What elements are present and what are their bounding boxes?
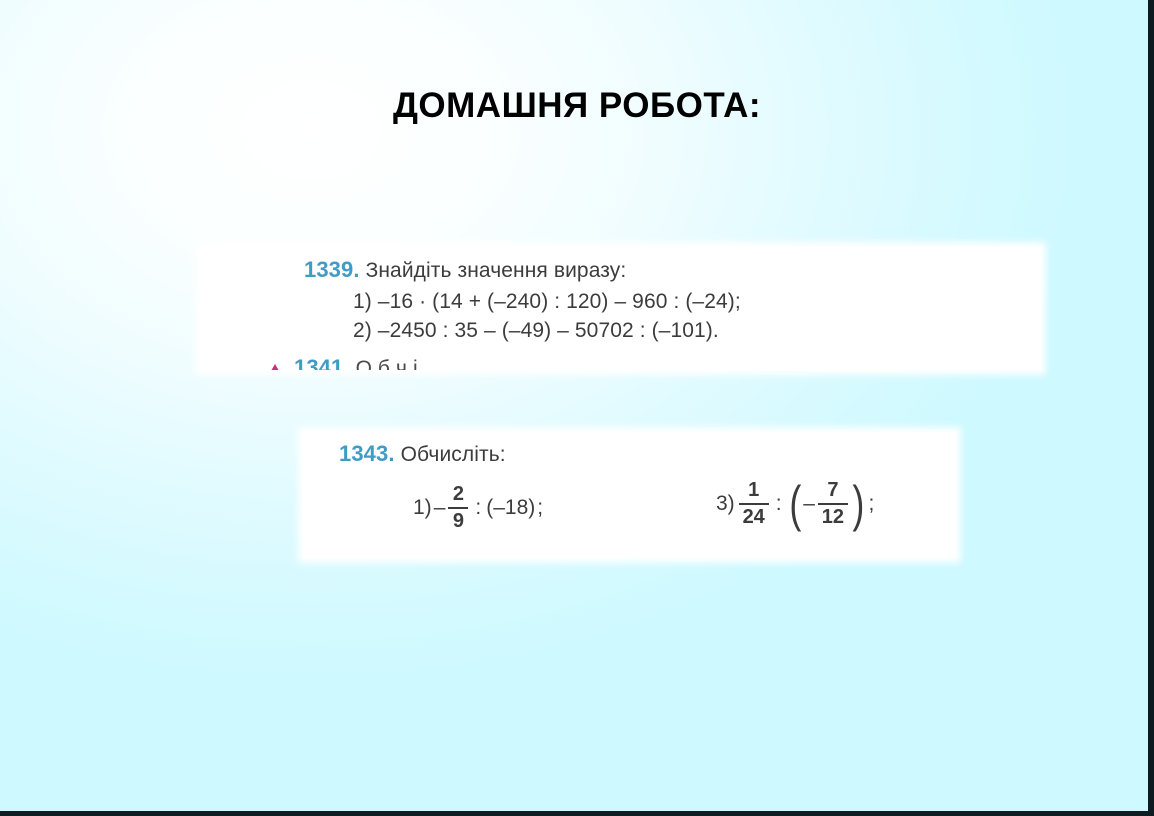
cropped-next-exercise-row: 1341.О б ч і [268, 355, 418, 370]
exercise-1343-number: 1343. [339, 441, 395, 466]
slide-right-edge [1148, 0, 1154, 816]
fraction-bar [448, 507, 468, 509]
math-item-3-paren-open: ( [789, 489, 801, 520]
slide-canvas: ДОМАШНЯ РОБОТА: 1339.Знайдіть значення в… [0, 0, 1154, 816]
math-item-3-denominator: 24 [741, 507, 767, 528]
math-item-3-paren-group: ( – 7 12 ) [787, 480, 867, 528]
slide-bottom-edge [0, 811, 1154, 816]
exercise-1343-prompt: Обчисліть: [401, 443, 506, 466]
cropped-exercise-number: 1341. [294, 355, 350, 370]
math-item-1-terminator: ; [537, 496, 543, 520]
exercise-clipping-1339: 1339.Знайдіть значення виразу: 1) –16 · … [200, 247, 1041, 370]
math-item-3-paren-numerator: 7 [825, 480, 840, 501]
math-item-1-index: 1) [413, 496, 432, 520]
math-item-1-operator: : [475, 496, 481, 520]
math-item-1-denominator: 9 [451, 511, 466, 532]
exercise-1339-prompt: Знайдіть значення виразу: [366, 259, 627, 282]
math-item-1-numerator: 2 [451, 484, 466, 505]
math-item-3-operator: : [776, 492, 782, 516]
cropped-exercise-fragment: О б ч і [356, 357, 418, 370]
math-item-1-operand: (–18) [486, 496, 535, 520]
math-item-3-fraction: 1 24 [739, 480, 769, 528]
math-item-3: 3) 1 24 : ( – 7 12 ) ; [716, 480, 874, 528]
page-title: ДОМАШНЯ РОБОТА: [0, 86, 1154, 126]
math-item-3-numerator: 1 [746, 480, 761, 501]
math-item-3-paren-close: ) [852, 489, 864, 520]
exercise-1343-items: 1) – 2 9 : (–18) ; 3) 1 24 : [413, 480, 953, 550]
math-item-1: 1) – 2 9 : (–18) ; [413, 484, 543, 532]
fraction-bar [818, 503, 848, 505]
fraction-bar [739, 503, 769, 505]
exercise-1339-header: 1339.Знайдіть значення виразу: [304, 257, 626, 283]
math-item-1-lead-sign: – [434, 496, 446, 520]
triangle-marker-icon [268, 364, 282, 370]
exercise-1343-header: 1343.Обчисліть: [339, 441, 506, 467]
math-item-3-index: 3) [716, 492, 735, 516]
math-item-3-paren-fraction: 7 12 [818, 480, 848, 528]
exercise-1339-number: 1339. [304, 257, 360, 282]
math-item-3-paren-sign: – [803, 492, 815, 516]
exercise-clipping-1343: 1343.Обчисліть: 1) – 2 9 : (–18) ; 3) [303, 432, 956, 558]
exercise-1339-line-1: 1) –16 · (14 + (–240) : 120) – 960 : (–2… [353, 290, 741, 314]
math-item-1-fraction: 2 9 [448, 484, 468, 532]
math-item-3-paren-denominator: 12 [820, 507, 846, 528]
exercise-1339-line-2: 2) –2450 : 35 – (–49) – 50702 : (–101). [353, 319, 719, 343]
math-item-3-terminator: ; [869, 492, 875, 516]
